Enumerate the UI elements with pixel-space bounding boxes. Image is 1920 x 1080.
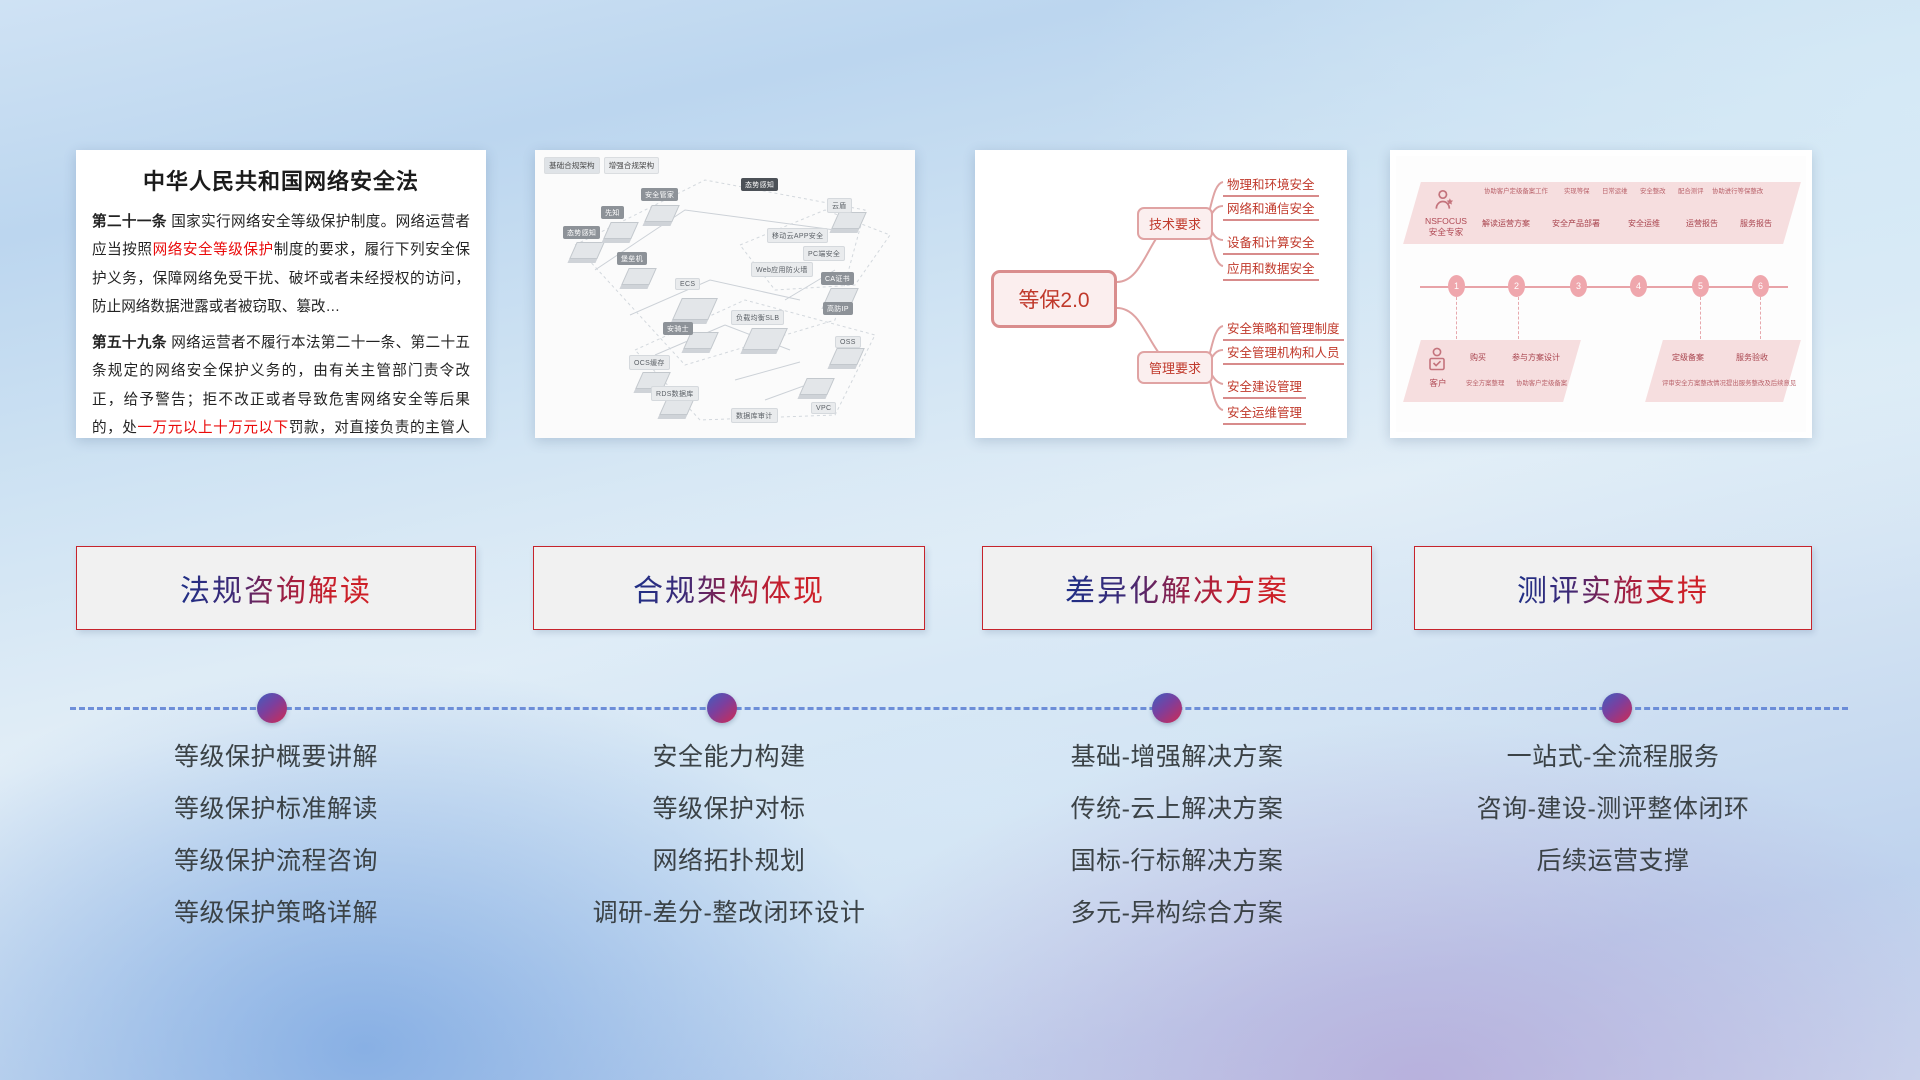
mindmap: 等保2.0 技术要求 物理和环境安全 网络和通信安全 设备和计算安全 应用和数据… [975,150,1347,438]
list-item: 等级保护策略详解 [76,901,476,926]
list-column-2: 安全能力构建 等级保护对标 网络拓扑规划 调研-差分-整改闭环设计 [533,745,925,953]
headline-box-3[interactable]: 差异化解决方案 [982,546,1372,630]
arch-node-waf: Web应用防火墙 [751,262,813,277]
nsfocus-step-top-1: 协助客户定级备案工作 [1484,186,1548,195]
arch-node-vpc: VPC [811,402,836,414]
arch-node-situational: 态势感知 [741,178,778,191]
nsfocus-connector-1 [1456,297,1458,339]
nsfocus-brand-sub: 安全专家 [1429,227,1463,237]
law-paragraph-59: 第五十九条 网络运营者不履行本法第二十一条、第二十五条规定的网络安全保护义务的，… [92,329,470,438]
timeline [0,693,1920,723]
mindmap-leaf-mgmt-1: 安全策略和管理制度 [1223,318,1344,341]
list-item: 后续运营支撑 [1414,849,1812,874]
mindmap-branch-technical[interactable]: 技术要求 [1137,207,1213,240]
timeline-dot-1[interactable] [257,693,287,723]
list-item: 等级保护对标 [533,797,925,822]
nsfocus-node-3[interactable]: 3 [1570,275,1587,297]
nsfocus-connector-4 [1760,297,1762,339]
law-title: 中华人民共和国网络安全法 [92,164,470,196]
nsfocus-step-top-2: 实现等保 [1564,186,1590,195]
arch-node-mobile: 移动云APP安全 [767,228,828,243]
list-item: 调研-差分-整改闭环设计 [533,901,925,926]
card-cybersecurity-law[interactable]: 中华人民共和国网络安全法 第二十一条 国家实行网络安全等级保护制度。网络运营者应… [76,150,486,438]
arch-node-aqs: 安骑士 [663,322,693,335]
nsfocus-sub-bottom-3: 评审安全方案整改情况 [1662,378,1726,387]
law-paragraph-21: 第二十一条 国家实行网络安全等级保护制度。网络运营者应当按照网络安全等级保护制度… [92,208,470,322]
nsfocus-tag-bottom-1: 购买 [1470,352,1486,363]
headline-box-1[interactable]: 法规咨询解读 [76,546,476,630]
mindmap-leaf-mgmt-3: 安全建设管理 [1223,376,1306,399]
law-59-highlight-1: 一万元以上十万元以下 [137,420,288,436]
headline-label-3: 差异化解决方案 [1065,566,1289,610]
headline-row: 法规咨询解读 合规架构体现 差异化解决方案 测评实施支持 [0,546,1920,630]
list-column-3: 基础-增强解决方案 传统-云上解决方案 国标-行标解决方案 多元-异构综合方案 [982,745,1372,953]
nsfocus-step-top-6: 协助进行等保整改 [1712,186,1763,195]
nsfocus-connector-3 [1700,297,1702,339]
card-nsfocus-process[interactable]: NSFOCUS 安全专家 协助客户定级备案工作 实现等保 日常运维 安全整改 配… [1390,150,1812,438]
nsfocus-main-line [1420,286,1788,288]
card-mindmap-dengbao[interactable]: 等保2.0 技术要求 物理和环境安全 网络和通信安全 设备和计算安全 应用和数据… [975,150,1347,438]
nsfocus-bottom-ribbon-right [1645,340,1801,402]
customer-person-icon [1426,346,1450,374]
nsfocus-step-top-5: 配合测评 [1678,186,1704,195]
law-article-21-label: 第二十一条 [92,214,167,230]
list-item: 多元-异构综合方案 [982,901,1372,926]
law-article-59-label: 第五十九条 [92,335,167,351]
nsfocus-tag-top-4: 运营报告 [1686,218,1718,229]
nsfocus-canvas: NSFOCUS 安全专家 协助客户定级备案工作 实现等保 日常运维 安全整改 配… [1396,156,1806,432]
headline-label-1: 法规咨询解读 [180,566,372,610]
list-item: 等级保护概要讲解 [76,745,476,770]
list-item: 基础-增强解决方案 [982,745,1372,770]
mindmap-branch-management[interactable]: 管理要求 [1137,351,1213,384]
headline-label-2: 合规架构体现 [633,566,825,610]
mindmap-leaf-mgmt-2: 安全管理机构和人员 [1223,342,1344,365]
arch-node-steward: 安全管家 [641,188,678,201]
arch-node-rds: RDS数据库 [651,386,699,401]
nsfocus-tag-top-5: 服务报告 [1740,218,1772,229]
headline-box-2[interactable]: 合规架构体现 [533,546,925,630]
card-compliance-architecture[interactable]: 基础合规架构 增强合规架构 [535,150,915,438]
nsfocus-process: NSFOCUS 安全专家 协助客户定级备案工作 实现等保 日常运维 安全整改 配… [1390,150,1812,438]
mindmap-leaf-tech-1: 物理和环境安全 [1223,174,1319,197]
arch-node-ca: CA证书 [821,272,854,285]
nsfocus-step-top-3: 日常运维 [1602,186,1628,195]
nsfocus-node-2[interactable]: 2 [1508,275,1525,297]
timeline-dot-3[interactable] [1152,693,1182,723]
nsfocus-node-1[interactable]: 1 [1448,275,1465,297]
nsfocus-tag-top-2: 安全产品部署 [1552,218,1600,229]
list-item: 安全能力构建 [533,745,925,770]
list-item: 一站式-全流程服务 [1414,745,1812,770]
arch-node-yundun: 云盾 [827,198,852,213]
infographic-root: 中华人民共和国网络安全法 第二十一条 国家实行网络安全等级保护制度。网络运营者应… [0,0,1920,1080]
nsfocus-node-4[interactable]: 4 [1630,275,1647,297]
timeline-dot-4[interactable] [1602,693,1632,723]
nsfocus-connector-2 [1518,297,1520,339]
nsfocus-tag-top-1: 解读运营方案 [1482,218,1530,229]
headline-label-4: 测评实施支持 [1517,566,1709,610]
list-item: 咨询-建设-测评整体闭环 [1414,797,1812,822]
arch-node-slb: 负载均衡SLB [731,310,784,325]
list-item: 网络拓扑规划 [533,849,925,874]
list-item: 国标-行标解决方案 [982,849,1372,874]
nsfocus-tag-bottom-3: 定级备案 [1672,352,1704,363]
nsfocus-tag-bottom-4: 服务验收 [1736,352,1768,363]
nsfocus-sub-bottom-2: 协助客户定级备案 [1516,378,1567,387]
preview-cards-row: 中华人民共和国网络安全法 第二十一条 国家实行网络安全等级保护制度。网络运营者应… [0,150,1920,450]
expert-person-icon [1432,188,1458,214]
law-content: 中华人民共和国网络安全法 第二十一条 国家实行网络安全等级保护制度。网络运营者应… [76,150,486,438]
arch-node-antiddos: 高防IP [823,302,853,315]
mindmap-leaf-tech-3: 设备和计算安全 [1223,232,1319,255]
nsfocus-customer-label: 客户 [1420,378,1456,389]
nsfocus-brand-name: NSFOCUS [1425,216,1467,226]
timeline-dashed-line [70,707,1848,710]
arch-node-ocs: OCS缓存 [629,355,670,370]
nsfocus-tag-bottom-2: 参与方案设计 [1512,352,1560,363]
arch-node-pc: PC端安全 [803,246,845,261]
architecture-wires [535,150,915,438]
mindmap-leaf-tech-2: 网络和通信安全 [1223,198,1319,221]
arch-node-sa: 态势感知 [563,226,600,239]
nsfocus-node-6[interactable]: 6 [1752,275,1769,297]
mindmap-leaf-tech-4: 应用和数据安全 [1223,258,1319,281]
architecture-diagram: 基础合规架构 增强合规架构 [535,150,915,438]
list-column-1: 等级保护概要讲解 等级保护标准解读 等级保护流程咨询 等级保护策略详解 [76,745,476,953]
mindmap-root-node[interactable]: 等保2.0 [991,270,1117,328]
nsfocus-brand: NSFOCUS 安全专家 [1418,216,1474,237]
nsfocus-sub-bottom-4: 提出服务整改及后续意见 [1726,378,1796,387]
headline-box-4[interactable]: 测评实施支持 [1414,546,1812,630]
list-item: 传统-云上解决方案 [982,797,1372,822]
law-21-highlight: 网络安全等级保护 [153,242,274,258]
arch-node-dbaudit: 数据库审计 [731,408,778,423]
list-item: 等级保护标准解读 [76,797,476,822]
nsfocus-step-top-4: 安全整改 [1640,186,1666,195]
list-item: 等级保护流程咨询 [76,849,476,874]
nsfocus-sub-bottom-1: 安全方案整理 [1466,378,1504,387]
mindmap-leaf-mgmt-4: 安全运维管理 [1223,402,1306,425]
nsfocus-tag-top-3: 安全运维 [1628,218,1660,229]
arch-node-ecs: ECS [675,278,700,290]
timeline-dot-2[interactable] [707,693,737,723]
arch-node-bastion: 堡垒机 [617,252,647,265]
nsfocus-node-5[interactable]: 5 [1692,275,1709,297]
arch-node-xianzhi: 先知 [601,206,624,219]
arch-node-oss: OSS [835,336,861,348]
list-column-4: 一站式-全流程服务 咨询-建设-测评整体闭环 后续运营支撑 [1414,745,1812,901]
